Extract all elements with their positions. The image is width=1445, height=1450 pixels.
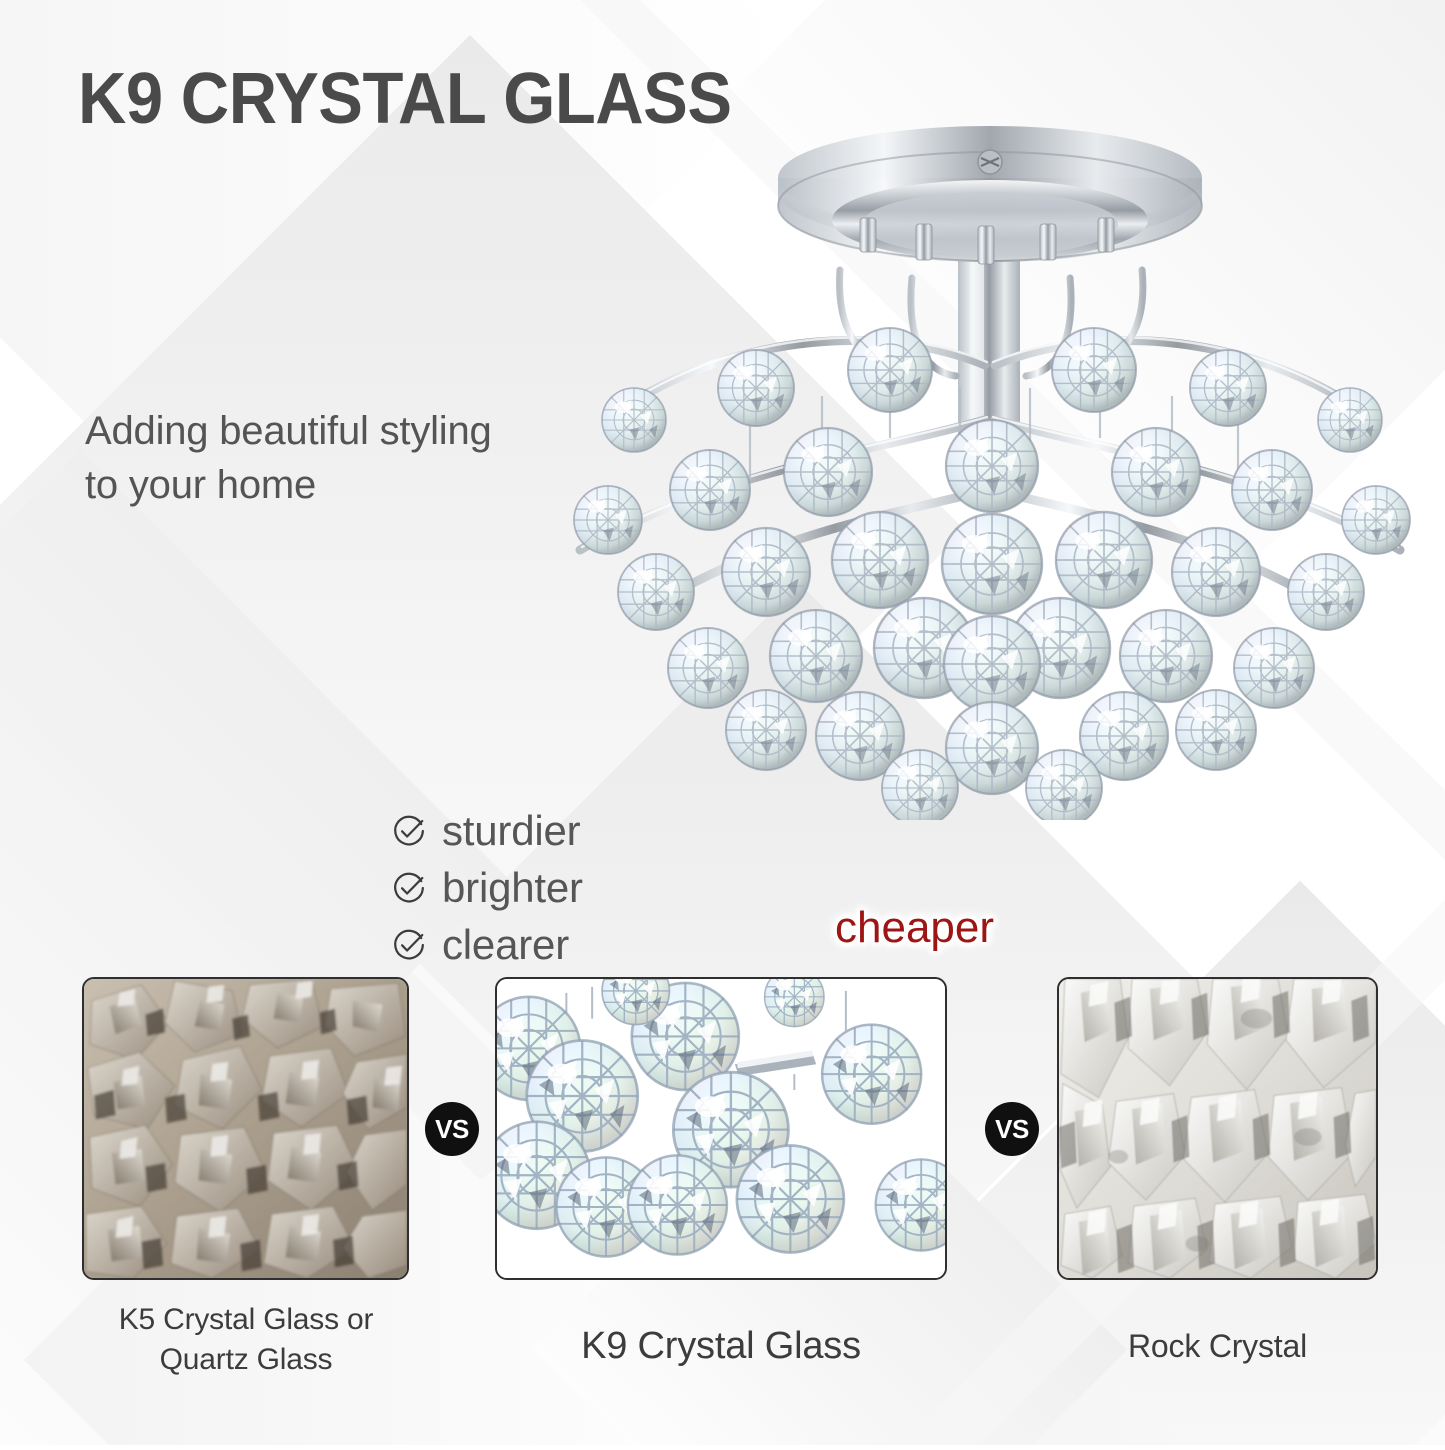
- caption-k9-crystal: K9 Crystal Glass: [495, 1325, 947, 1368]
- vs-badge-right: VS: [985, 1102, 1039, 1156]
- product-image-chandelier: [560, 120, 1420, 820]
- caption-line: Quartz Glass: [60, 1340, 432, 1380]
- check-circle-icon: [392, 814, 426, 848]
- k5-quartz-photo: [84, 979, 407, 1278]
- page-subtitle: Adding beautiful styling to your home: [85, 404, 492, 512]
- feature-label: sturdier: [442, 810, 580, 852]
- rock-crystal-photo: [1059, 979, 1376, 1278]
- check-circle-icon: [392, 871, 426, 905]
- comparison-panel-k9-crystal: [495, 977, 947, 1280]
- vs-badge-left: VS: [425, 1102, 479, 1156]
- caption-rock-crystal: Rock Crystal: [1047, 1328, 1388, 1365]
- check-circle-icon: [392, 928, 426, 962]
- cheaper-highlight-label: cheaper: [835, 903, 994, 953]
- caption-line: K5 Crystal Glass or: [60, 1300, 432, 1340]
- feature-item: sturdier: [392, 802, 583, 859]
- subtitle-line-1: Adding beautiful styling: [85, 404, 492, 458]
- page-title: K9 CRYSTAL GLASS: [78, 58, 732, 140]
- k9-crystal-photo: [497, 979, 945, 1279]
- subtitle-line-2: to your home: [85, 458, 492, 512]
- feature-label: brighter: [442, 867, 583, 909]
- feature-label: clearer: [442, 924, 569, 966]
- feature-list: sturdier brighter clearer: [392, 802, 583, 973]
- feature-item: clearer: [392, 916, 583, 973]
- comparison-panel-rock-crystal: [1057, 977, 1378, 1280]
- feature-item: brighter: [392, 859, 583, 916]
- comparison-panel-k5-quartz: [82, 977, 409, 1280]
- caption-k5-quartz: K5 Crystal Glass or Quartz Glass: [60, 1300, 432, 1379]
